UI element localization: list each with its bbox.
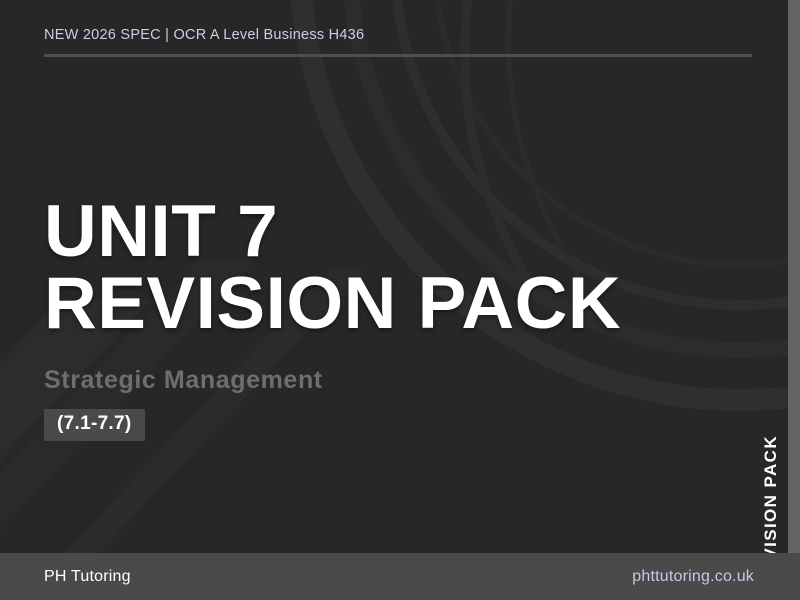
title-line-1: UNIT 7 bbox=[44, 196, 744, 268]
footer-brand: PH Tutoring bbox=[44, 568, 131, 586]
spec-range-badge: (7.1-7.7) bbox=[44, 409, 145, 441]
vertical-side-label: REVISION PACK bbox=[754, 356, 788, 586]
title-slide: NEW 2026 SPEC | OCR A Level Business H43… bbox=[0, 0, 800, 600]
page-title: UNIT 7 REVISION PACK bbox=[44, 196, 744, 341]
footer-url[interactable]: phttutoring.co.uk bbox=[632, 568, 754, 586]
slide-header: NEW 2026 SPEC | OCR A Level Business H43… bbox=[44, 28, 752, 57]
slide-footer: PH Tutoring phttutoring.co.uk bbox=[0, 553, 800, 600]
title-line-2: REVISION PACK bbox=[44, 268, 744, 340]
subtitle: Strategic Management bbox=[44, 367, 744, 395]
header-divider bbox=[44, 54, 752, 57]
title-block: UNIT 7 REVISION PACK Strategic Managemen… bbox=[44, 196, 744, 441]
spec-label: NEW 2026 SPEC | OCR A Level Business H43… bbox=[44, 28, 752, 44]
right-accent-strip bbox=[788, 0, 800, 600]
